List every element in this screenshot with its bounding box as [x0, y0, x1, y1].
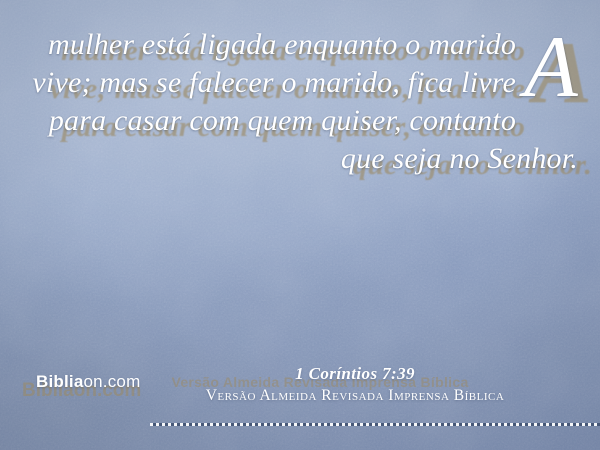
verse-text: A mulher está ligada enquanto o marido v… [28, 26, 578, 178]
verse-reference: 1 Coríntios 7:39 [170, 364, 540, 384]
verse-dropcap: A [524, 34, 578, 103]
dotted-divider [150, 423, 600, 426]
bible-version: Versão Almeida Revisada Imprensa Bíblica [170, 387, 540, 405]
verse-body: mulher está ligada enquanto o marido viv… [32, 28, 578, 175]
reference-block: 1 Coríntios 7:39 Versão Almeida Revisada… [170, 364, 540, 405]
verse-image-card: A mulher está ligada enquanto o marido v… [0, 0, 600, 450]
verse-main-layer: A mulher está ligada enquanto o marido v… [0, 26, 600, 326]
footer: Bibliaon.com Bibliaon.com Versão Almeida… [0, 360, 600, 432]
